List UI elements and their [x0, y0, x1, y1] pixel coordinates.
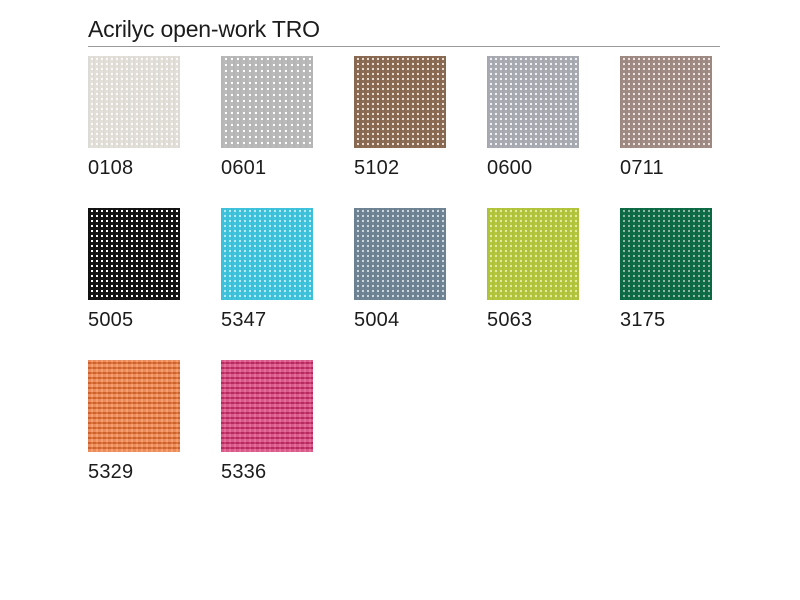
- weave-shading: [487, 208, 579, 300]
- swatch-code-label: 5063: [487, 310, 620, 330]
- weave-texture: [354, 208, 446, 300]
- weave-shading: [620, 208, 712, 300]
- swatch-item-5102[interactable]: 5102: [354, 56, 487, 178]
- swatch-item-5005[interactable]: 5005: [88, 208, 221, 330]
- weave-texture: [620, 208, 712, 300]
- swatch-item-5329[interactable]: 5329: [88, 360, 221, 482]
- swatch-item-3175[interactable]: 3175: [620, 208, 753, 330]
- swatch-chip-5005[interactable]: [88, 208, 180, 300]
- weave-texture: [88, 56, 180, 148]
- weave-texture: [221, 56, 313, 148]
- swatch-code-label: 0600: [487, 158, 620, 178]
- swatch-chip-0601[interactable]: [221, 56, 313, 148]
- swatch-code-label: 3175: [620, 310, 753, 330]
- swatch-code-label: 5004: [354, 310, 487, 330]
- swatch-item-0108[interactable]: 0108: [88, 56, 221, 178]
- swatch-code-label: 5005: [88, 310, 221, 330]
- swatch-item-5336[interactable]: 5336: [221, 360, 354, 482]
- swatch-row: 50055347500450633175: [88, 208, 768, 330]
- swatch-item-0711[interactable]: 0711: [620, 56, 753, 178]
- swatch-chip-5102[interactable]: [354, 56, 446, 148]
- swatch-code-label: 0601: [221, 158, 354, 178]
- swatch-chip-5063[interactable]: [487, 208, 579, 300]
- weave-texture: [620, 56, 712, 148]
- weave-texture: [221, 360, 313, 452]
- weave-shading: [88, 56, 180, 148]
- weave-texture: [88, 360, 180, 452]
- weave-texture: [88, 208, 180, 300]
- swatch-chip-3175[interactable]: [620, 208, 712, 300]
- swatch-chip-0711[interactable]: [620, 56, 712, 148]
- swatch-catalog-page: Acrilyc open-work TRO 010806015102060007…: [0, 0, 800, 600]
- weave-shading: [354, 208, 446, 300]
- swatch-code-label: 5336: [221, 462, 354, 482]
- swatch-item-0600[interactable]: 0600: [487, 56, 620, 178]
- swatch-chip-0108[interactable]: [88, 56, 180, 148]
- weave-shading: [88, 208, 180, 300]
- weave-shading: [221, 208, 313, 300]
- swatch-chip-5336[interactable]: [221, 360, 313, 452]
- swatch-item-5004[interactable]: 5004: [354, 208, 487, 330]
- weave-texture: [487, 208, 579, 300]
- swatch-code-label: 5102: [354, 158, 487, 178]
- swatch-code-label: 5347: [221, 310, 354, 330]
- swatch-chip-5329[interactable]: [88, 360, 180, 452]
- weave-shading: [620, 56, 712, 148]
- swatch-chip-5004[interactable]: [354, 208, 446, 300]
- weave-texture: [487, 56, 579, 148]
- swatch-item-0601[interactable]: 0601: [221, 56, 354, 178]
- swatch-code-label: 0711: [620, 158, 753, 178]
- swatch-grid: 0108060151020600071150055347500450633175…: [88, 56, 768, 512]
- swatch-chip-5347[interactable]: [221, 208, 313, 300]
- weave-shading: [221, 56, 313, 148]
- swatch-item-5347[interactable]: 5347: [221, 208, 354, 330]
- swatch-code-label: 0108: [88, 158, 221, 178]
- swatch-chip-0600[interactable]: [487, 56, 579, 148]
- swatch-row: 01080601510206000711: [88, 56, 768, 178]
- weave-texture: [354, 56, 446, 148]
- weave-shading: [221, 360, 313, 452]
- swatch-row: 53295336: [88, 360, 768, 482]
- page-title: Acrilyc open-work TRO: [88, 16, 320, 43]
- title-divider: [88, 46, 720, 47]
- weave-shading: [487, 56, 579, 148]
- weave-texture: [221, 208, 313, 300]
- weave-shading: [354, 56, 446, 148]
- swatch-code-label: 5329: [88, 462, 221, 482]
- weave-shading: [88, 360, 180, 452]
- swatch-item-5063[interactable]: 5063: [487, 208, 620, 330]
